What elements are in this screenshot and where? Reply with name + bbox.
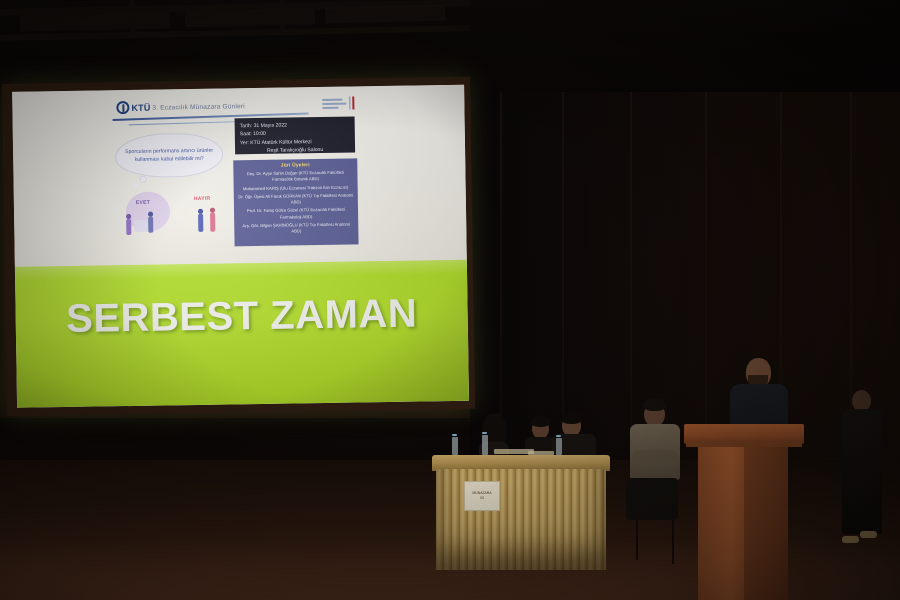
person-legs xyxy=(626,478,678,520)
lectern-body-front xyxy=(698,447,744,600)
bottle-cap xyxy=(556,435,561,437)
lectern-body-side xyxy=(744,447,788,600)
panel-table: MÜNAZARA 03 xyxy=(432,455,610,570)
speaker-entry: Arş. Gör. Bilgen ŞAHİNOĞLU (KTÜ Tıp Fakü… xyxy=(238,222,354,236)
lectern-top xyxy=(684,424,804,444)
thought-bubble-text: Sporcuların performans artırıcı ürünler … xyxy=(115,146,223,164)
choice-label-no: HAYIR xyxy=(194,196,211,202)
choice-label-yes: EVET xyxy=(136,200,150,206)
illustration-figure-body xyxy=(126,219,131,235)
table-sign-line: 03 xyxy=(480,496,484,501)
water-bottle xyxy=(452,437,458,455)
illustration-figure-head xyxy=(198,209,203,214)
ktu-emblem-icon xyxy=(116,101,129,114)
person-attendee-right xyxy=(838,390,886,575)
illustration-figure-head xyxy=(148,212,153,217)
bottle-cap xyxy=(452,434,457,436)
table-skirt xyxy=(436,469,606,570)
wooden-lectern xyxy=(684,424,804,600)
illustration-figure-body xyxy=(148,217,153,233)
person-audience-man xyxy=(626,398,688,528)
person-speaker xyxy=(728,358,790,430)
person-shoe xyxy=(842,536,859,543)
illustration-figure-body xyxy=(210,213,215,232)
thought-bubble-tail-large xyxy=(139,176,146,183)
person-shoe xyxy=(860,531,877,538)
poster-event-title: 3. Eczacılık Münazara Günleri xyxy=(152,103,245,111)
person-hair xyxy=(643,399,666,411)
speakers-heading: Jüri Üyeleri xyxy=(237,162,353,169)
table-name-sign: MÜNAZARA 03 xyxy=(464,481,500,511)
thought-bubble: Sporcuların performans artırıcı ürünler … xyxy=(115,133,224,179)
projection-screen-frame: KTÜ 3. Eczacılık Münazara Günleri Sporcu… xyxy=(2,77,475,416)
person-hair xyxy=(531,416,550,427)
projection-screen: KTÜ 3. Eczacılık Münazara Günleri Sporcu… xyxy=(12,85,469,408)
event-poster: KTÜ 3. Eczacılık Münazara Günleri Sporcu… xyxy=(108,92,363,264)
event-hall: Reşit Tarakçıoğlu Salonu xyxy=(240,145,350,155)
bottle-cap xyxy=(482,432,487,434)
person-arms-crossed xyxy=(632,450,678,466)
illustration-figure-head xyxy=(126,214,131,219)
thought-bubble-tail-small xyxy=(134,183,138,187)
ktu-logo: KTÜ xyxy=(116,101,150,115)
slide-headline: SERBEST ZAMAN xyxy=(15,291,468,343)
speaker-entry: Muhammed KARIŞ (Ulu Eczanesi Trabzon İla… xyxy=(238,184,354,192)
speaker-entry: Dr. Öğr. Üyesi Ali Faruk GÜRKAN (KTÜ Tıp… xyxy=(238,192,354,206)
speaker-entry: Doç. Dr. Ayşe Sahin Doğan (KTÜ Eczacılık… xyxy=(237,169,353,183)
speaker-entry: Prof. Dr. Fatoş Gülce Güzel (KTÜ Eczacıl… xyxy=(238,207,354,221)
person-hair xyxy=(561,413,582,424)
event-info-box: Tarih: 31 Mayıs 2022 Saat: 10:00 Yer: KT… xyxy=(235,116,356,154)
illustration-figure-body xyxy=(198,214,203,232)
water-bottle xyxy=(556,438,562,455)
photograph-scene: KTÜ 3. Eczacılık Münazara Günleri Sporcu… xyxy=(0,0,900,600)
speakers-panel: Jüri Üyeleri Doç. Dr. Ayşe Sahin Doğan (… xyxy=(233,158,358,246)
illustration-figure-head xyxy=(210,208,215,213)
partner-logo xyxy=(322,95,354,111)
water-bottle xyxy=(482,435,488,455)
ktu-logo-text: KTÜ xyxy=(131,102,150,112)
person-torso xyxy=(842,409,882,534)
